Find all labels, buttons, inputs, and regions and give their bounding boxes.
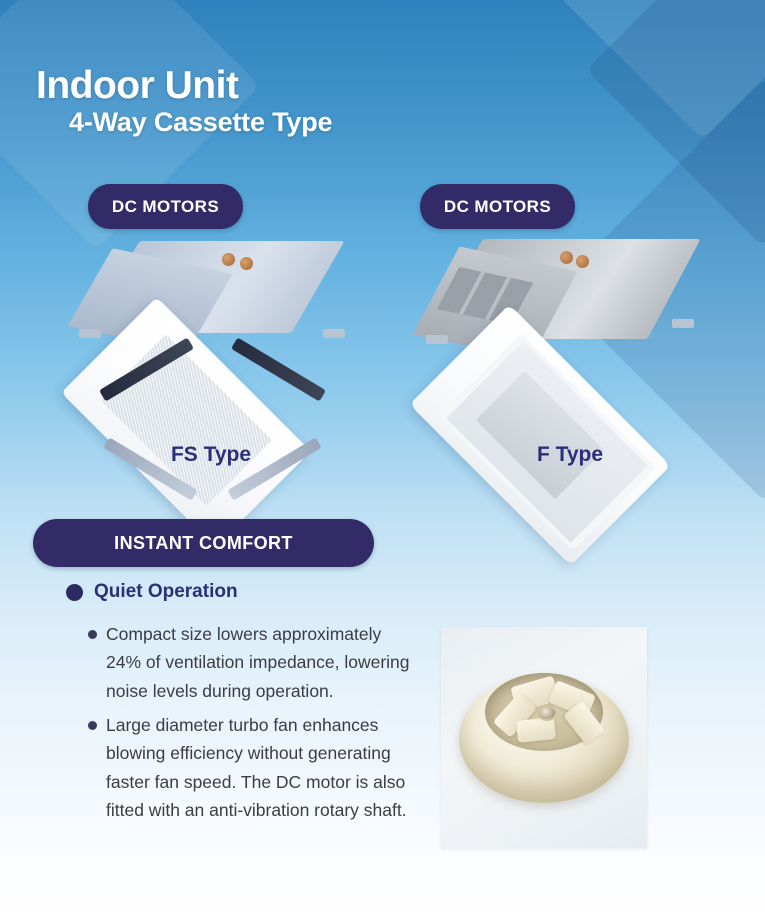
feature-bullet-list: Compact size lowers approximately 24% of… bbox=[88, 620, 413, 830]
page-subtitle: 4-Way Cassette Type bbox=[69, 109, 332, 136]
badge-dc-motors-fs: DC MOTORS bbox=[88, 184, 243, 229]
page-title: Indoor Unit bbox=[36, 66, 238, 105]
refrigerant-pipe-a bbox=[222, 253, 235, 266]
badge-label: DC MOTORS bbox=[444, 197, 551, 217]
bullet-dot-icon bbox=[88, 721, 97, 730]
mount-bracket-right bbox=[323, 329, 345, 338]
feature-heading-row: Quiet Operation bbox=[66, 581, 238, 603]
f-type-illustration bbox=[408, 235, 738, 435]
product-image-f-type bbox=[408, 235, 738, 435]
refrigerant-pipe-b bbox=[576, 255, 589, 268]
fan-blade bbox=[516, 717, 556, 743]
bullet-dot-icon bbox=[66, 584, 83, 601]
list-item: Compact size lowers approximately 24% of… bbox=[88, 620, 413, 705]
bullet-text: Compact size lowers approximately 24% of… bbox=[106, 620, 413, 705]
product-brochure-page: Indoor Unit 4-Way Cassette Type DC MOTOR… bbox=[0, 0, 765, 922]
product-caption-fs: FS Type bbox=[46, 443, 376, 467]
turbo-fan-illustration bbox=[455, 653, 633, 823]
refrigerant-pipe-b bbox=[240, 257, 253, 270]
list-item: Large diameter turbo fan enhances blowin… bbox=[88, 711, 413, 824]
mount-bracket-right bbox=[672, 319, 694, 328]
mount-bracket-left bbox=[426, 335, 448, 344]
product-caption-f: F Type bbox=[405, 443, 735, 467]
feature-heading: Quiet Operation bbox=[94, 581, 238, 603]
bullet-dot-icon bbox=[88, 630, 97, 639]
fan-hub bbox=[537, 705, 557, 721]
bullet-text: Large diameter turbo fan enhances blowin… bbox=[106, 711, 413, 824]
badge-dc-motors-f: DC MOTORS bbox=[420, 184, 575, 229]
turbo-fan-image bbox=[441, 627, 647, 848]
fs-type-illustration bbox=[55, 235, 385, 435]
product-image-fs-type bbox=[55, 235, 385, 435]
badge-label: DC MOTORS bbox=[112, 197, 219, 217]
refrigerant-pipe-a bbox=[560, 251, 573, 264]
mount-bracket-left bbox=[79, 329, 101, 338]
badge-instant-comfort: INSTANT COMFORT bbox=[33, 519, 374, 567]
badge-label: INSTANT COMFORT bbox=[114, 533, 293, 554]
